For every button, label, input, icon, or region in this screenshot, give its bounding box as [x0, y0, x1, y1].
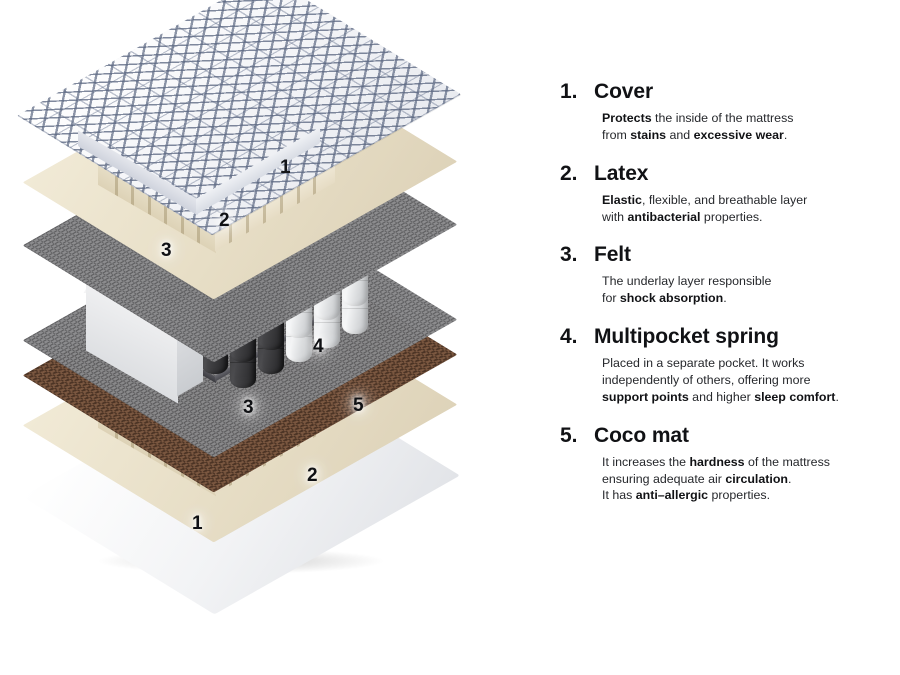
- cover-top-top-face: [17, 0, 461, 235]
- legend-item-felt-head: 3. Felt: [560, 243, 890, 267]
- legend-item-multipocket-spring-title: Multipocket spring: [594, 325, 779, 349]
- legend-item-latex: 2. Latex Elastic, flexible, and breathab…: [560, 162, 890, 226]
- legend-item-multipocket-spring-description: Placed in a separate pocket. It worksind…: [602, 355, 890, 406]
- callout-multipocket-spring: 4: [313, 337, 324, 356]
- legend-item-multipocket-spring-number: 4.: [560, 325, 594, 349]
- legend-item-cover-description: Protects the inside of the mattressfrom …: [602, 110, 890, 144]
- legend-item-cover-title: Cover: [594, 80, 653, 104]
- mattress-exploded-diagram: 1 2 3 4 3 5 2 1: [0, 0, 520, 675]
- legend-item-cover: 1. Cover Protects the inside of the matt…: [560, 80, 890, 144]
- legend-item-coco-mat-head: 5. Coco mat: [560, 424, 890, 448]
- callout-felt-top: 3: [161, 241, 172, 260]
- legend-item-coco-mat: 5. Coco mat It increases the hardness of…: [560, 424, 890, 505]
- legend-item-latex-number: 2.: [560, 162, 594, 186]
- diagram-stage: 1 2 3 4 3 5 2 1: [0, 0, 520, 675]
- legend-item-felt-title: Felt: [594, 243, 631, 267]
- legend-item-cover-number: 1.: [560, 80, 594, 104]
- legend-item-coco-mat-description: It increases the hardness of the mattres…: [602, 454, 890, 505]
- legend-item-felt-description: The underlay layer responsiblefor shock …: [602, 273, 890, 307]
- callout-felt-bottom: 3: [243, 398, 254, 417]
- infographic-page: 1 2 3 4 3 5 2 1 1. Cover Protects the in…: [0, 0, 900, 675]
- callout-coco-mat: 5: [353, 396, 364, 415]
- legend-list: 1. Cover Protects the inside of the matt…: [560, 80, 890, 522]
- legend-item-latex-head: 2. Latex: [560, 162, 890, 186]
- legend-item-coco-mat-number: 5.: [560, 424, 594, 448]
- legend-item-latex-description: Elastic, flexible, and breathable layerw…: [602, 192, 890, 226]
- callout-cover-bottom: 1: [192, 514, 203, 533]
- legend-item-multipocket-spring-head: 4. Multipocket spring: [560, 325, 890, 349]
- layer-cover-top: [0, 0, 520, 675]
- callout-latex-bottom: 2: [307, 466, 318, 485]
- legend-item-felt-number: 3.: [560, 243, 594, 267]
- legend-item-multipocket-spring: 4. Multipocket spring Placed in a separa…: [560, 325, 890, 406]
- callout-latex-top: 2: [219, 211, 230, 230]
- legend-item-coco-mat-title: Coco mat: [594, 424, 689, 448]
- legend-item-latex-title: Latex: [594, 162, 648, 186]
- legend-item-cover-head: 1. Cover: [560, 80, 890, 104]
- callout-cover-top: 1: [280, 158, 291, 177]
- legend-item-felt: 3. Felt The underlay layer responsiblefo…: [560, 243, 890, 307]
